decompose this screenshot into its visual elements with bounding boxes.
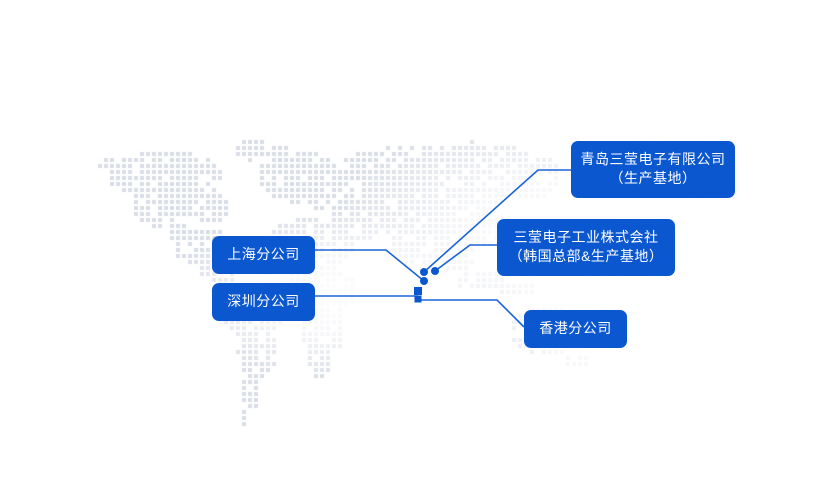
label-line: 青岛三莹电子有限公司: [571, 150, 735, 169]
shanghai-leader: [315, 250, 424, 281]
korea-leader: [435, 245, 497, 271]
label-line: 三莹电子工业株式会社: [497, 228, 675, 247]
label-line: （韩国总部&生产基地）: [497, 247, 675, 266]
label-shanghai[interactable]: 上海分公司: [212, 236, 315, 274]
shanghai-dot[interactable]: [420, 277, 428, 285]
label-line: 上海分公司: [212, 245, 315, 264]
qingdao-dot[interactable]: [420, 268, 428, 276]
label-qingdao[interactable]: 青岛三莹电子有限公司 （生产基地）: [571, 141, 735, 198]
world-map-infographic: 青岛三莹电子有限公司 （生产基地） 三莹电子工业株式会社 （韩国总部&生产基地）…: [0, 0, 824, 480]
label-korea-hq[interactable]: 三莹电子工业株式会社 （韩国总部&生产基地）: [497, 219, 675, 276]
korea-dot[interactable]: [431, 267, 439, 275]
label-line: 深圳分公司: [212, 292, 315, 311]
hongkong-dot[interactable]: [415, 296, 422, 303]
connector-layer: [0, 0, 824, 480]
hongkong-leader: [418, 300, 524, 327]
label-hongkong[interactable]: 香港分公司: [524, 310, 627, 348]
label-line: 香港分公司: [524, 319, 627, 338]
label-shenzhen[interactable]: 深圳分公司: [212, 283, 315, 321]
label-line: （生产基地）: [571, 169, 735, 188]
shenzhen-dot[interactable]: [414, 287, 422, 295]
